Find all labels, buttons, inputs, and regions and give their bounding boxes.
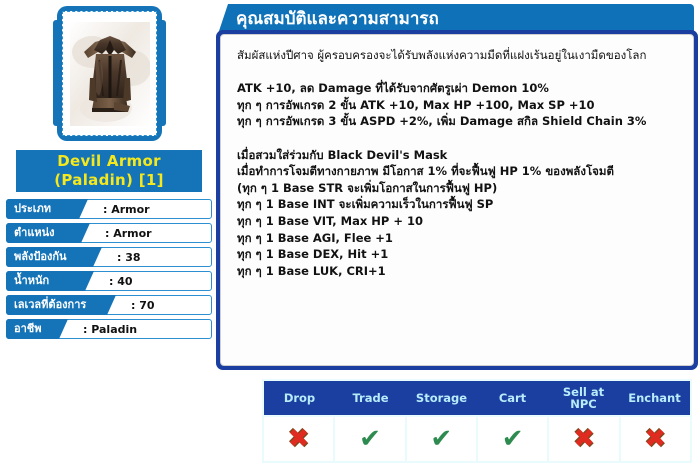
- permissions-value-row: ✖✔✔✔✖✖: [264, 417, 690, 461]
- panel-body-frame: สัมผัสแห่งปีศาจ ผู้ครอบครองจะได้รับพลังแ…: [216, 30, 698, 370]
- description-line: ทุก ๆ 1 Base VIT, Max HP + 10: [237, 213, 679, 230]
- description-spacer: [237, 64, 679, 81]
- permission-cell: ✖: [621, 417, 690, 461]
- stat-label: อาชีพ: [6, 319, 68, 339]
- description-line: เมื่อทำการโจมตีทางกายภาพ มีโอกาส 1% ที่จ…: [237, 163, 679, 180]
- stat-row: เลเวลที่ต้องการ: 70: [6, 295, 212, 315]
- permission-header: Enchant: [619, 381, 690, 415]
- description-line: ทุก ๆ 1 Base AGI, Flee +1: [237, 230, 679, 247]
- devil-armor-sprite: [70, 22, 150, 126]
- stat-label: ตำแหน่ง: [6, 223, 90, 243]
- description-line: ทุก ๆ การอัพเกรด 2 ขั้น ATK +10, Max HP …: [237, 97, 679, 114]
- check-icon: ✔: [430, 426, 452, 452]
- stat-row: อาชีพ: Paladin: [6, 319, 212, 339]
- item-image-frame: [62, 11, 157, 136]
- permission-cell: ✖: [549, 417, 618, 461]
- permission-cell: ✔: [335, 417, 404, 461]
- stat-label: เลเวลที่ต้องการ: [6, 295, 116, 315]
- permission-cell: ✖: [264, 417, 333, 461]
- description-line: สัมผัสแห่งปีศาจ ผู้ครอบครองจะได้รับพลังแ…: [237, 47, 679, 64]
- check-icon: ✔: [359, 426, 381, 452]
- stat-label: ประเภท: [6, 199, 88, 219]
- check-icon: ✔: [502, 426, 524, 452]
- permission-header: Cart: [477, 381, 548, 415]
- item-name-line2: (Paladin) [1]: [16, 171, 202, 190]
- description-line: (ทุก ๆ 1 Base STR จะเพิ่มโอกาสในการฟื้นฟ…: [237, 180, 679, 197]
- description-line: ทุก ๆ 1 Base LUK, CRI+1: [237, 263, 679, 280]
- description-line: ทุก ๆ 1 Base INT จะเพิ่มความเร็วในการฟื้…: [237, 196, 679, 213]
- description-line: ทุก ๆ การอัพเกรด 3 ขั้น ASPD +2%, เพิ่ม …: [237, 113, 679, 130]
- permission-header: Trade: [335, 381, 406, 415]
- description-line: ทุก ๆ 1 Base DEX, Hit +1: [237, 246, 679, 263]
- item-name-line1: Devil Armor: [16, 152, 202, 171]
- stat-row: ตำแหน่ง: Armor: [6, 223, 212, 243]
- cross-icon: ✖: [288, 426, 310, 452]
- stat-label: น้ำหนัก: [6, 271, 94, 291]
- cross-icon: ✖: [644, 426, 666, 452]
- stat-row: พลังป้องกัน: 38: [6, 247, 212, 267]
- description-line: ATK +10, ลด Damage ที่ได้รับจากศัตรูเผ่า…: [237, 80, 679, 97]
- permission-header: Sell at NPC: [548, 381, 619, 415]
- stat-label: พลังป้องกัน: [6, 247, 102, 267]
- description-line: เมื่อสวมใส่ร่วมกับ Black Devil's Mask: [237, 147, 679, 164]
- item-summary-column: Devil Armor (Paladin) [1] ประเภท: Armorต…: [0, 0, 218, 467]
- permission-header: Storage: [406, 381, 477, 415]
- description-spacer: [237, 130, 679, 147]
- permissions-table: DropTradeStorageCartSell at NPCEnchant ✖…: [262, 379, 692, 463]
- permission-cell: ✔: [407, 417, 476, 461]
- stat-value: : 70: [131, 296, 155, 316]
- permissions-header-row: DropTradeStorageCartSell at NPCEnchant: [264, 381, 690, 415]
- item-name-plate: Devil Armor (Paladin) [1]: [16, 150, 202, 192]
- permission-cell: ✔: [478, 417, 547, 461]
- stat-value: : 40: [109, 272, 133, 292]
- permission-header: Drop: [264, 381, 335, 415]
- item-image-card: [57, 6, 162, 141]
- stat-value: : Paladin: [83, 320, 137, 340]
- stat-value: : 38: [117, 248, 141, 268]
- attributes-panel: คุณสมบัติและความสามารถ สัมผัสแห่งปีศาจ ผ…: [212, 0, 700, 372]
- cross-icon: ✖: [573, 426, 595, 452]
- stat-value: : Armor: [103, 200, 150, 220]
- item-description: สัมผัสแห่งปีศาจ ผู้ครอบครองจะได้รับพลังแ…: [220, 34, 694, 366]
- stat-row: ประเภท: Armor: [6, 199, 212, 219]
- stat-row: น้ำหนัก: 40: [6, 271, 212, 291]
- stat-value: : Armor: [105, 224, 152, 244]
